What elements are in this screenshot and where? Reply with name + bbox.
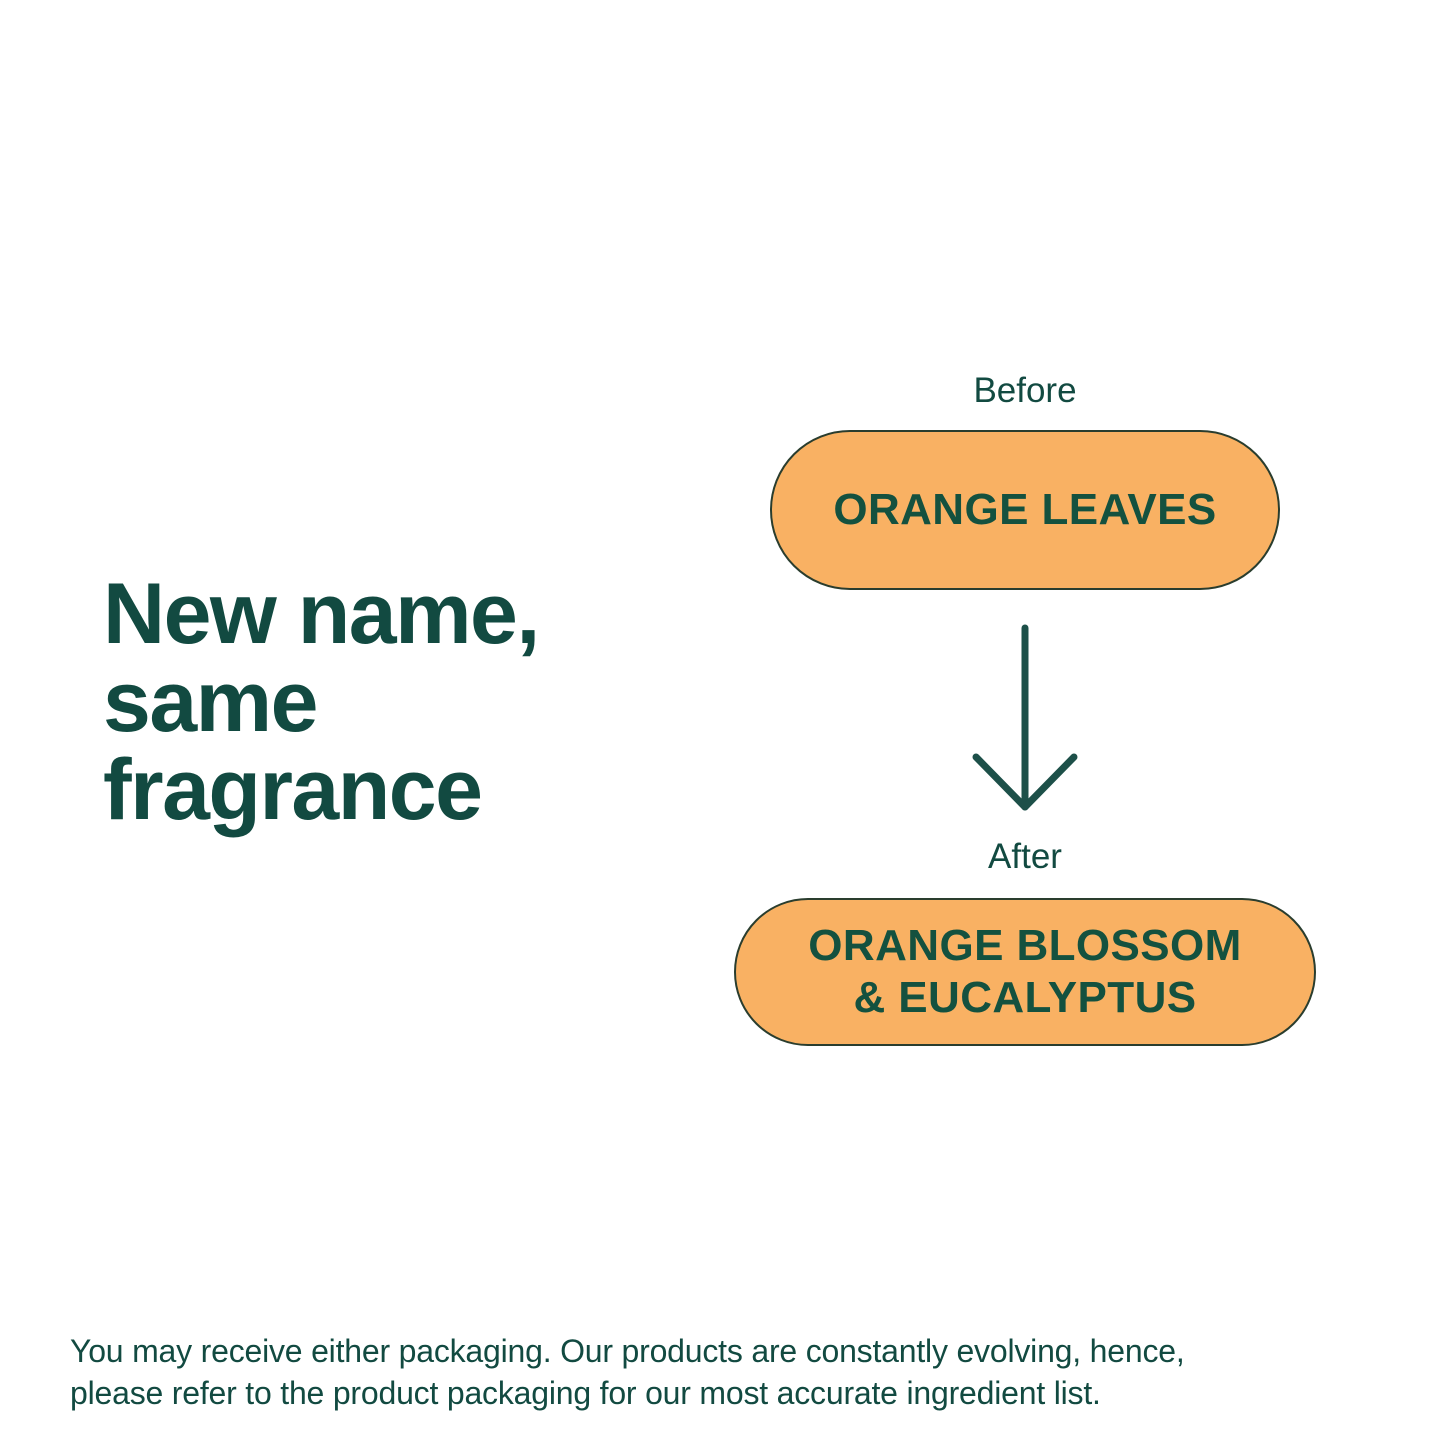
before-after-comparison: Before ORANGE LEAVES After ORANGE BLOSSO… [700, 370, 1350, 1046]
after-label: After [988, 836, 1062, 878]
after-product-pill: ORANGE BLOSSOM & EUCALYPTUS [734, 898, 1316, 1046]
before-label: Before [973, 370, 1076, 412]
arrow-down-icon [965, 624, 1085, 814]
page-title: New name, same fragrance [103, 570, 663, 834]
packaging-disclaimer: You may receive either packaging. Our pr… [70, 1330, 1380, 1414]
before-product-pill: ORANGE LEAVES [770, 430, 1280, 590]
promo-canvas: New name, same fragrance Before ORANGE L… [0, 0, 1445, 1445]
